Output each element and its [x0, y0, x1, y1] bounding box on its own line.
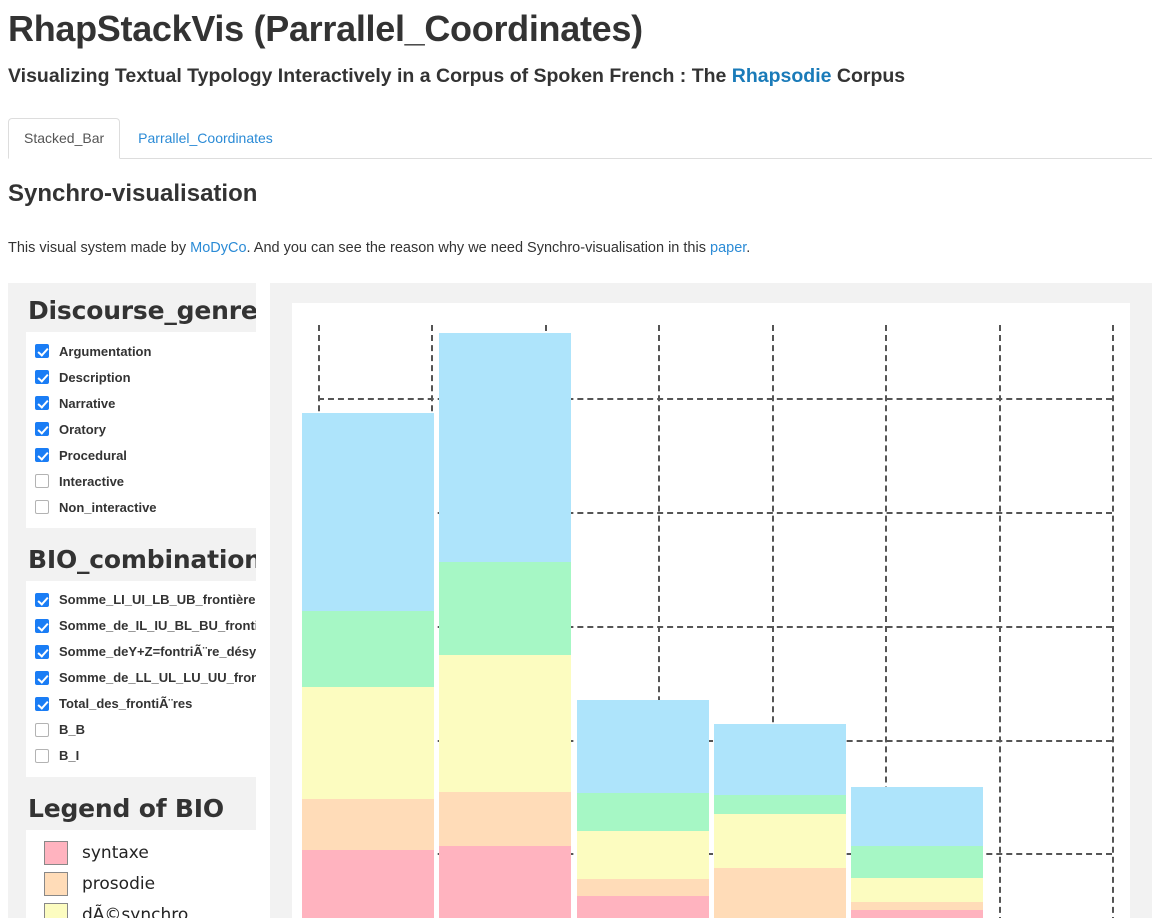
bar-narrative[interactable]: [577, 700, 709, 918]
bar-segment-prosodie[interactable]: [577, 879, 709, 896]
checkbox-bio-6[interactable]: [35, 749, 49, 763]
checkbox-bio-2[interactable]: [35, 645, 49, 659]
bar-segment-désynchro[interactable]: [302, 687, 434, 800]
checkbox-narrative[interactable]: [35, 396, 49, 410]
bar-segment-prosodie[interactable]: [851, 902, 983, 910]
main-content: Discourse_genres Argumentation Descripti…: [0, 259, 1160, 918]
tab-stacked-bar[interactable]: Stacked_Bar: [8, 118, 120, 159]
section-title: Synchro-visualisation: [0, 159, 1160, 207]
legend-swatch-desynchro: [44, 903, 68, 918]
bar-argumentation[interactable]: [302, 413, 434, 918]
checkbox-interactive[interactable]: [35, 474, 49, 488]
checkbox-label-bio-4: Total_des_frontiÃ¨res: [59, 697, 192, 710]
checkbox-bio-3[interactable]: [35, 671, 49, 685]
bar-segment-synchro[interactable]: [439, 562, 571, 655]
bar-segment-synchro[interactable]: [302, 611, 434, 686]
legend-item-desynchro: dÃ©synchro: [26, 900, 256, 918]
bar-segment-désynchro[interactable]: [577, 831, 709, 879]
chart-card: [270, 283, 1152, 918]
bar-segment-prosodie[interactable]: [302, 799, 434, 849]
legend-swatch-syntaxe: [44, 841, 68, 865]
checkbox-label-bio-3: Somme_de_LL_UL_LU_UU_frontières: [59, 671, 256, 684]
checkbox-label-procedural: Procedural: [59, 449, 127, 462]
checkbox-argumentation[interactable]: [35, 344, 49, 358]
bar-segment-blue[interactable]: [302, 413, 434, 612]
checkbox-row-procedural[interactable]: Procedural: [26, 442, 256, 468]
checkbox-label-oratory: Oratory: [59, 423, 106, 436]
legend-item-syntaxe: syntaxe: [26, 838, 256, 869]
page-title: RhapStackVis (Parrallel_Coordinates): [0, 0, 1160, 50]
bio-combination-heading: BIO_combination: [8, 528, 256, 581]
bar-segment-synchro[interactable]: [851, 846, 983, 877]
section-description: This visual system made by MoDyCo. And y…: [0, 207, 1160, 259]
discourse-genres-heading: Discourse_genres: [8, 293, 256, 332]
bar-oratory[interactable]: [714, 724, 846, 918]
checkbox-row-argumentation[interactable]: Argumentation: [26, 338, 256, 364]
bar-segment-prosodie[interactable]: [714, 868, 846, 918]
paper-link[interactable]: paper: [710, 240, 746, 256]
checkbox-label-narrative: Narrative: [59, 397, 115, 410]
stacked-bar-chart[interactable]: [292, 303, 1130, 918]
bar-segment-désynchro[interactable]: [851, 878, 983, 902]
checkbox-procedural[interactable]: [35, 448, 49, 462]
tab-list: Stacked_Bar Parrallel_Coordinates: [8, 120, 1152, 159]
legend-label-prosodie: prosodie: [82, 876, 155, 893]
page-root: RhapStackVis (Parrallel_Coordinates) Vis…: [0, 0, 1160, 918]
page-subtitle: Visualizing Textual Typology Interactive…: [0, 50, 1160, 88]
checkbox-label-description: Description: [59, 371, 131, 384]
checkbox-description[interactable]: [35, 370, 49, 384]
bar-segment-désynchro[interactable]: [714, 814, 846, 868]
desc-text-3: .: [746, 240, 750, 256]
checkbox-label-interactive: Interactive: [59, 475, 124, 488]
checkbox-label-argumentation: Argumentation: [59, 345, 151, 358]
bar-segment-prosodie[interactable]: [439, 792, 571, 846]
bar-segment-synchro[interactable]: [714, 795, 846, 814]
bio-combination-list: Somme_LI_UI_LB_UB_frontières Somme_de_IL…: [26, 581, 256, 777]
checkbox-row-bio-2[interactable]: Somme_deY+Z=fontriÃ¨re_désynchro: [26, 639, 256, 665]
legend-label-syntaxe: syntaxe: [82, 845, 149, 862]
gridline-horizontal: [318, 626, 1112, 628]
checkbox-label-bio-2: Somme_deY+Z=fontriÃ¨re_désynchro: [59, 645, 256, 658]
checkbox-non-interactive[interactable]: [35, 500, 49, 514]
bar-segment-syntaxe[interactable]: [851, 910, 983, 918]
bar-description[interactable]: [439, 333, 571, 918]
bar-segment-syntaxe[interactable]: [439, 846, 571, 918]
checkbox-label-bio-6: B_I: [59, 749, 79, 762]
bar-segment-blue[interactable]: [577, 700, 709, 793]
checkbox-label-bio-5: B_B: [59, 723, 85, 736]
checkbox-row-non-interactive[interactable]: Non_interactive: [26, 494, 256, 520]
checkbox-row-interactive[interactable]: Interactive: [26, 468, 256, 494]
rhapsodie-link[interactable]: Rhapsodie: [732, 65, 832, 87]
discourse-genres-list: Argumentation Description Narrative Orat…: [26, 332, 256, 528]
bar-segment-syntaxe[interactable]: [302, 850, 434, 918]
desc-text-2: . And you can see the reason why we need…: [247, 240, 710, 256]
checkbox-bio-4[interactable]: [35, 697, 49, 711]
bar-procedural[interactable]: [851, 787, 983, 918]
checkbox-label-non-interactive: Non_interactive: [59, 501, 157, 514]
controls-sidebar: Discourse_genres Argumentation Descripti…: [8, 283, 256, 918]
gridline-horizontal: [318, 398, 1112, 400]
bar-segment-blue[interactable]: [851, 787, 983, 847]
legend-item-prosodie: prosodie: [26, 869, 256, 900]
bar-segment-syntaxe[interactable]: [577, 896, 709, 918]
checkbox-oratory[interactable]: [35, 422, 49, 436]
checkbox-row-bio-5[interactable]: B_B: [26, 717, 256, 743]
gridline-vertical: [1112, 325, 1114, 918]
checkbox-row-bio-6[interactable]: B_I: [26, 743, 256, 769]
checkbox-row-narrative[interactable]: Narrative: [26, 390, 256, 416]
checkbox-row-bio-0[interactable]: Somme_LI_UI_LB_UB_frontières: [26, 587, 256, 613]
tab-parrallel-coordinates[interactable]: Parrallel_Coordinates: [122, 118, 289, 159]
modyco-link[interactable]: MoDyCo: [190, 240, 246, 256]
bar-segment-synchro[interactable]: [577, 793, 709, 831]
checkbox-bio-5[interactable]: [35, 723, 49, 737]
subtitle-text-after: Corpus: [831, 65, 905, 87]
legend-list: syntaxe prosodie dÃ©synchro synchro: [26, 830, 256, 918]
legend-swatch-prosodie: [44, 872, 68, 896]
tabs-container: Stacked_Bar Parrallel_Coordinates: [0, 120, 1160, 159]
checkbox-row-bio-1[interactable]: Somme_de_IL_IU_BL_BU_frontières: [26, 613, 256, 639]
legend-heading: Legend of BIO: [8, 777, 256, 830]
checkbox-label-bio-0: Somme_LI_UI_LB_UB_frontières: [59, 593, 256, 606]
bar-segment-désynchro[interactable]: [439, 655, 571, 792]
bar-segment-blue[interactable]: [714, 724, 846, 795]
bar-segment-blue[interactable]: [439, 333, 571, 562]
checkbox-bio-0[interactable]: [35, 593, 49, 607]
checkbox-row-description[interactable]: Description: [26, 364, 256, 390]
desc-text-1: This visual system made by: [8, 240, 190, 256]
checkbox-label-bio-1: Somme_de_IL_IU_BL_BU_frontières: [59, 619, 256, 632]
gridline-horizontal: [318, 512, 1112, 514]
checkbox-bio-1[interactable]: [35, 619, 49, 633]
checkbox-row-bio-4[interactable]: Total_des_frontiÃ¨res: [26, 691, 256, 717]
gridline-vertical: [999, 325, 1001, 918]
checkbox-row-bio-3[interactable]: Somme_de_LL_UL_LU_UU_frontières: [26, 665, 256, 691]
subtitle-text-before: Visualizing Textual Typology Interactive…: [8, 65, 732, 87]
legend-label-desynchro: dÃ©synchro: [82, 907, 188, 918]
checkbox-row-oratory[interactable]: Oratory: [26, 416, 256, 442]
